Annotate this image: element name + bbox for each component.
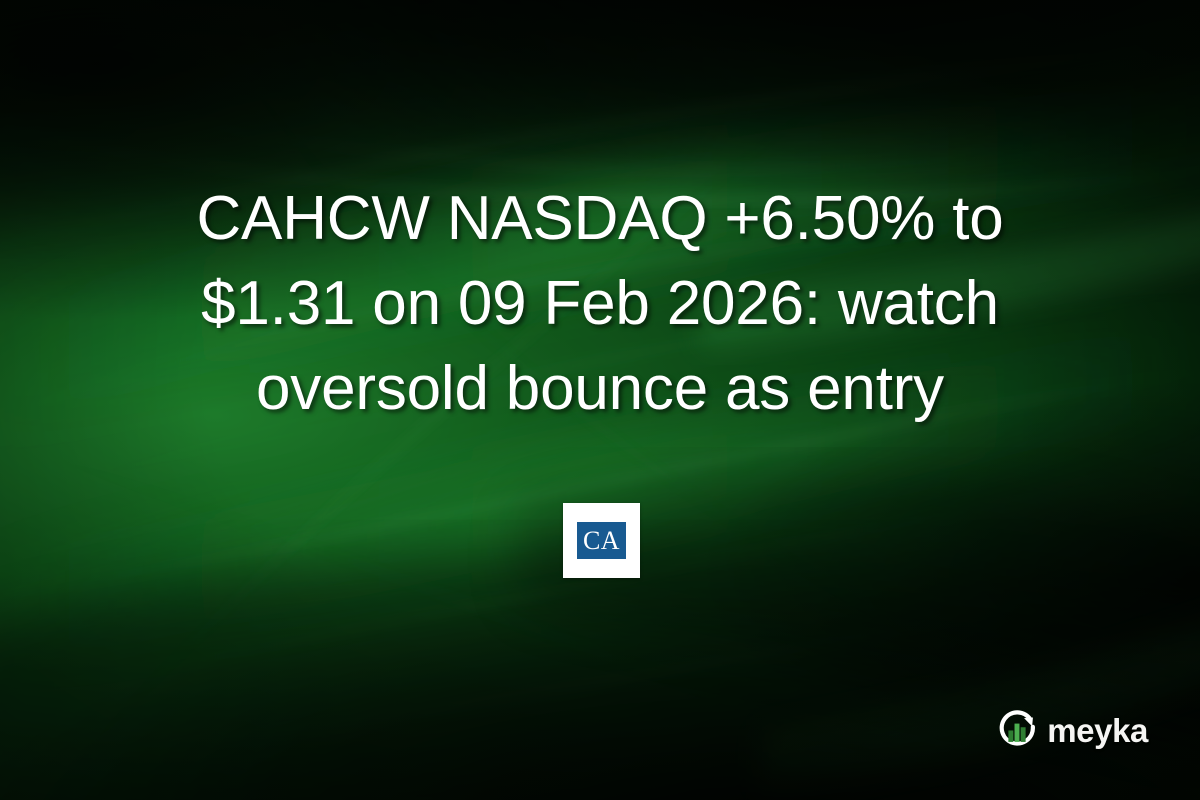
company-logo-ca-icon: CA — [577, 522, 626, 559]
company-logo-badge: CA — [563, 503, 640, 578]
news-card: CAHCW NASDAQ +6.50% to $1.31 on 09 Feb 2… — [0, 0, 1200, 800]
brand-name: meyka — [1047, 714, 1148, 747]
headline-line-3: oversold bounce as entry — [40, 346, 1160, 431]
meyka-chart-ring-icon — [996, 708, 1040, 752]
headline: CAHCW NASDAQ +6.50% to $1.31 on 09 Feb 2… — [0, 176, 1200, 431]
headline-line-2: $1.31 on 09 Feb 2026: watch — [40, 261, 1160, 346]
brand-lockup: meyka — [996, 708, 1148, 752]
headline-line-1: CAHCW NASDAQ +6.50% to — [40, 176, 1160, 261]
